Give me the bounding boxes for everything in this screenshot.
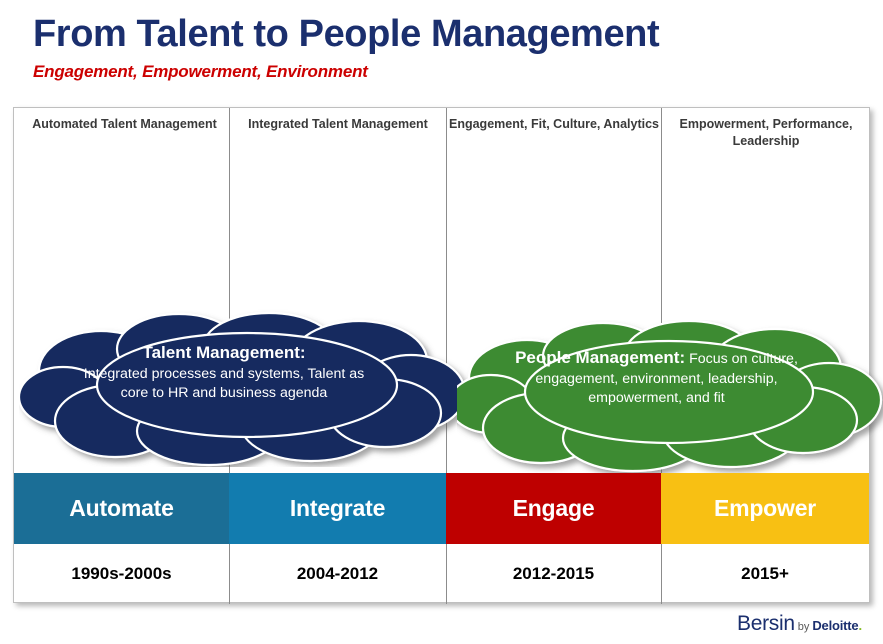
page-title: From Talent to People Management <box>33 15 659 55</box>
talent-management-cloud-text: Talent Management: Integrated processes … <box>74 341 374 404</box>
column-header-2: Integrated Talent Management <box>230 116 446 133</box>
column-header-1: Automated Talent Management <box>20 116 229 133</box>
year-row: 1990s-2000s 2004-2012 2012-2015 2015+ <box>14 544 869 604</box>
stage-empower[interactable]: Empower <box>661 473 869 544</box>
logo-bersin: Bersin <box>737 612 795 636</box>
maturity-matrix-frame: Automated Talent Management Integrated T… <box>13 107 870 603</box>
stage-engage[interactable]: Engage <box>446 473 661 544</box>
year-empower: 2015+ <box>661 544 869 604</box>
slide-canvas: From Talent to People Management Engagem… <box>0 0 883 644</box>
year-automate: 1990s-2000s <box>14 544 229 604</box>
stage-integrate[interactable]: Integrate <box>229 473 446 544</box>
logo-green-dot: . <box>858 618 862 633</box>
column-header-3: Engagement, Fit, Culture, Analytics <box>447 116 661 133</box>
stage-band: Automate Integrate Engage Empower <box>14 473 869 544</box>
bersin-deloitte-logo: Bersin by Deloitte . <box>737 612 862 636</box>
talent-management-lead: Talent Management: <box>142 343 305 362</box>
logo-by: by <box>798 621 810 633</box>
page-subtitle: Engagement, Empowerment, Environment <box>33 62 368 82</box>
year-integrate: 2004-2012 <box>229 544 446 604</box>
people-management-lead: People Management: <box>515 348 685 367</box>
logo-deloitte: Deloitte <box>812 618 858 633</box>
year-engage: 2012-2015 <box>446 544 661 604</box>
talent-management-body: Integrated processes and systems, Talent… <box>84 366 365 402</box>
stage-automate[interactable]: Automate <box>14 473 229 544</box>
column-header-4: Empowerment, Performance, Leadership <box>662 116 870 150</box>
people-management-cloud-text: People Management: Focus on culture, eng… <box>513 346 800 409</box>
